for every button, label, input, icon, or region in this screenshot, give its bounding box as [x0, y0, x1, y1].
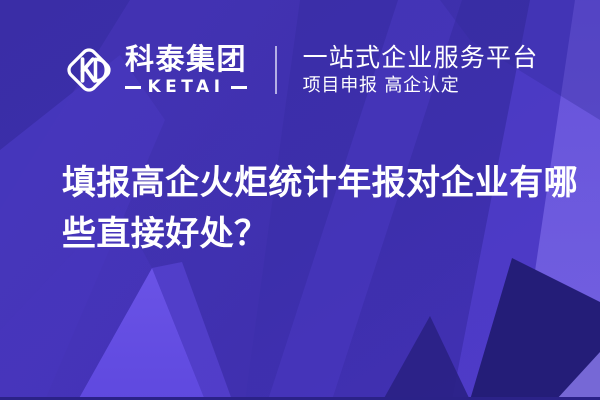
headline-block: 填报高企火炬统计年报对企业有哪 些直接好处？: [62, 158, 578, 260]
headline-line-1: 填报高企火炬统计年报对企业有哪: [62, 158, 578, 209]
promo-banner: 科泰集团 KETAI 一站式企业服务平台 项目申报 高企认定 填报高企火炬统计年…: [0, 0, 600, 400]
brand-name-cn: 科泰集团: [125, 44, 247, 74]
brand-logo: 科泰集团 KETAI: [62, 43, 247, 97]
brand-name-en: KETAI: [146, 79, 225, 96]
headline-line-2: 些直接好处？: [62, 209, 578, 260]
header-vertical-divider: [275, 46, 277, 94]
tagline-primary: 一站式企业服务平台: [303, 44, 539, 71]
tagline-block: 一站式企业服务平台 项目申报 高企认定: [303, 44, 539, 96]
brand-rule-right: [231, 86, 247, 89]
banner-header: 科泰集团 KETAI 一站式企业服务平台 项目申报 高企认定: [0, 0, 600, 140]
brand-name-en-row: KETAI: [125, 79, 247, 96]
ketai-diamond-kd-monogram-icon: [62, 43, 116, 97]
tagline-secondary: 项目申报 高企认定: [303, 76, 539, 96]
brand-wordmark: 科泰集团 KETAI: [125, 44, 247, 95]
brand-rule-left: [125, 86, 141, 89]
